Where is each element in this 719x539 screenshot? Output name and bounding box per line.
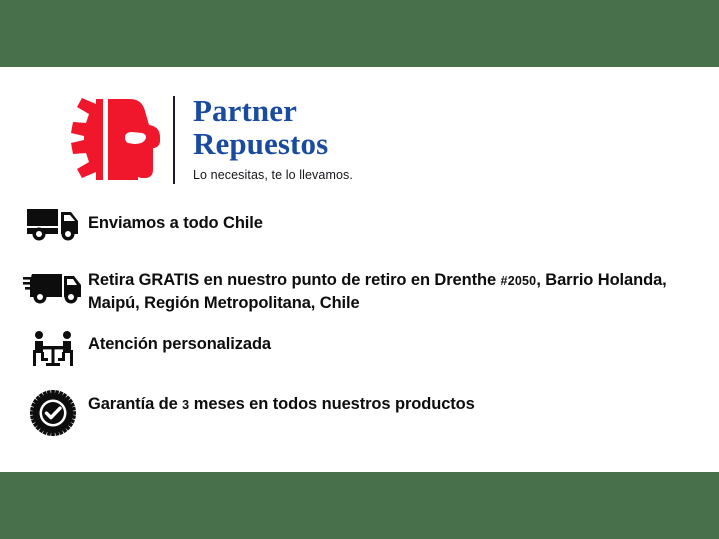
list-item: Garantía de 3 meses en todos nuestros pr… (18, 388, 708, 436)
brand-logo-block: Partner Repuestos Lo necesitas, te lo ll… (56, 92, 353, 187)
brand-tagline: Lo necesitas, te lo llevamos. (193, 168, 353, 182)
feature-text-small: #2050 (501, 274, 537, 288)
feature-text-main: Retira GRATIS en nuestro punto de retiro… (88, 271, 501, 289)
gear-car-logo-icon (56, 92, 169, 187)
feature-list: Enviamos a todo Chile Ret (18, 207, 708, 450)
feature-text-main: Atención personalizada (88, 335, 271, 353)
delivery-truck-icon (26, 207, 80, 241)
logo-divider (173, 96, 175, 184)
top-green-band (0, 0, 719, 67)
guarantee-badge-check-icon (30, 390, 76, 436)
list-item: Enviamos a todo Chile (18, 207, 708, 253)
brand-name-line-1: Partner (193, 94, 353, 127)
feature-text-tail: meses en todos nuestros productos (189, 395, 474, 413)
list-item-label: Retira GRATIS en nuestro punto de retiro… (88, 267, 708, 314)
list-item-label: Enviamos a todo Chile (88, 207, 708, 234)
feature-text-main: Garantía de (88, 395, 182, 413)
feature-icon-slot (18, 267, 88, 305)
list-item-label: Garantía de 3 meses en todos nuestros pr… (88, 388, 708, 416)
list-item: Retira GRATIS en nuestro punto de retiro… (18, 267, 708, 314)
feature-icon-slot (18, 388, 88, 436)
list-item: Atención personalizada (18, 328, 708, 374)
feature-icon-slot (18, 207, 88, 241)
list-item-label: Atención personalizada (88, 328, 708, 355)
bottom-green-band (0, 472, 719, 539)
meeting-table-icon (30, 330, 76, 368)
brand-name-line-2: Repuestos (193, 127, 353, 160)
moving-truck-icon (22, 269, 84, 305)
promo-banner: Partner Repuestos Lo necesitas, te lo ll… (0, 0, 719, 539)
brand-text: Partner Repuestos Lo necesitas, te lo ll… (193, 92, 353, 182)
feature-text-main: Enviamos a todo Chile (88, 214, 263, 232)
feature-icon-slot (18, 328, 88, 368)
